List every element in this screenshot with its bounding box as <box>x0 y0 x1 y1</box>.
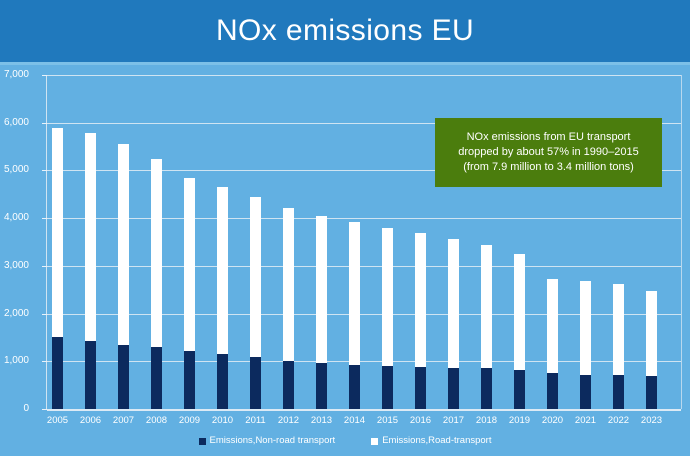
bar-segment-non-road-transport[interactable] <box>151 347 162 409</box>
bar-segment-non-road-transport[interactable] <box>547 373 558 409</box>
bar-segment-non-road-transport[interactable] <box>349 365 360 409</box>
bar-segment-road-transport[interactable] <box>547 279 558 373</box>
bar-segment-non-road-transport[interactable] <box>415 367 426 409</box>
legend-swatch-icon <box>371 438 378 445</box>
bar-segment-non-road-transport[interactable] <box>250 357 261 409</box>
bar-column[interactable] <box>316 75 327 409</box>
bar-segment-road-transport[interactable] <box>448 239 459 368</box>
y-tick-mark <box>42 409 47 410</box>
bar-segment-road-transport[interactable] <box>580 281 591 375</box>
bar-column[interactable] <box>85 75 96 409</box>
bar-column[interactable] <box>151 75 162 409</box>
x-axis-tick-label: 2023 <box>632 415 672 426</box>
bar-column[interactable] <box>415 75 426 409</box>
bar-segment-road-transport[interactable] <box>85 133 96 341</box>
bar-column[interactable] <box>217 75 228 409</box>
y-axis-tick-label: 4,000 <box>0 213 29 223</box>
bar-segment-road-transport[interactable] <box>382 228 393 366</box>
y-axis-tick-label: 6,000 <box>0 118 29 128</box>
bar-segment-non-road-transport[interactable] <box>481 368 492 409</box>
bar-segment-road-transport[interactable] <box>184 178 195 352</box>
y-axis-tick-label: 0 <box>0 404 29 414</box>
bar-segment-road-transport[interactable] <box>481 245 492 368</box>
bar-column[interactable] <box>283 75 294 409</box>
bar-segment-non-road-transport[interactable] <box>217 354 228 409</box>
y-axis-tick-label: 7,000 <box>0 70 29 80</box>
bar-segment-non-road-transport[interactable] <box>646 376 657 409</box>
bar-segment-non-road-transport[interactable] <box>85 341 96 409</box>
bar-segment-non-road-transport[interactable] <box>448 368 459 409</box>
bar-column[interactable] <box>349 75 360 409</box>
bar-segment-road-transport[interactable] <box>646 291 657 376</box>
bar-segment-road-transport[interactable] <box>283 208 294 361</box>
gridline-0 <box>47 409 681 411</box>
page-title: NOx emissions EU <box>216 16 474 46</box>
bar-column[interactable] <box>52 75 63 409</box>
chart-page: NOx emissions EU 01,0002,0003,0004,0005,… <box>0 0 690 456</box>
y-axis-tick-label: 3,000 <box>0 261 29 271</box>
bar-segment-road-transport[interactable] <box>349 222 360 365</box>
bar-segment-non-road-transport[interactable] <box>118 345 129 409</box>
bar-segment-non-road-transport[interactable] <box>580 375 591 409</box>
legend-item[interactable]: Emissions,Non-road transport <box>199 436 336 446</box>
legend-swatch-icon <box>199 438 206 445</box>
bar-segment-road-transport[interactable] <box>250 197 261 357</box>
y-axis-tick-label: 5,000 <box>0 165 29 175</box>
bar-segment-road-transport[interactable] <box>217 187 228 354</box>
bar-segment-road-transport[interactable] <box>151 159 162 347</box>
chart-header: NOx emissions EU <box>0 0 690 62</box>
bar-segment-non-road-transport[interactable] <box>382 366 393 409</box>
legend-label: Emissions,Non-road transport <box>210 436 336 446</box>
y-axis-tick-label: 2,000 <box>0 309 29 319</box>
callout-text: NOx emissions from EU transport dropped … <box>445 130 652 175</box>
legend-item[interactable]: Emissions,Road-transport <box>371 436 491 446</box>
bar-segment-non-road-transport[interactable] <box>514 370 525 409</box>
bar-segment-road-transport[interactable] <box>415 233 426 367</box>
bar-segment-non-road-transport[interactable] <box>283 361 294 409</box>
callout-box: NOx emissions from EU transport dropped … <box>435 118 662 187</box>
bar-segment-road-transport[interactable] <box>613 284 624 375</box>
bar-column[interactable] <box>184 75 195 409</box>
bar-segment-non-road-transport[interactable] <box>613 375 624 409</box>
bar-segment-road-transport[interactable] <box>316 216 327 363</box>
bar-segment-non-road-transport[interactable] <box>52 337 63 409</box>
bar-column[interactable] <box>118 75 129 409</box>
bar-segment-non-road-transport[interactable] <box>184 351 195 409</box>
bar-segment-road-transport[interactable] <box>514 254 525 370</box>
bar-segment-non-road-transport[interactable] <box>316 363 327 409</box>
chart-legend: Emissions,Non-road transportEmissions,Ro… <box>0 436 690 446</box>
bar-column[interactable] <box>250 75 261 409</box>
bar-segment-road-transport[interactable] <box>118 144 129 344</box>
bar-segment-road-transport[interactable] <box>52 128 63 337</box>
bar-column[interactable] <box>382 75 393 409</box>
y-axis-tick-label: 1,000 <box>0 356 29 366</box>
legend-label: Emissions,Road-transport <box>382 436 491 446</box>
